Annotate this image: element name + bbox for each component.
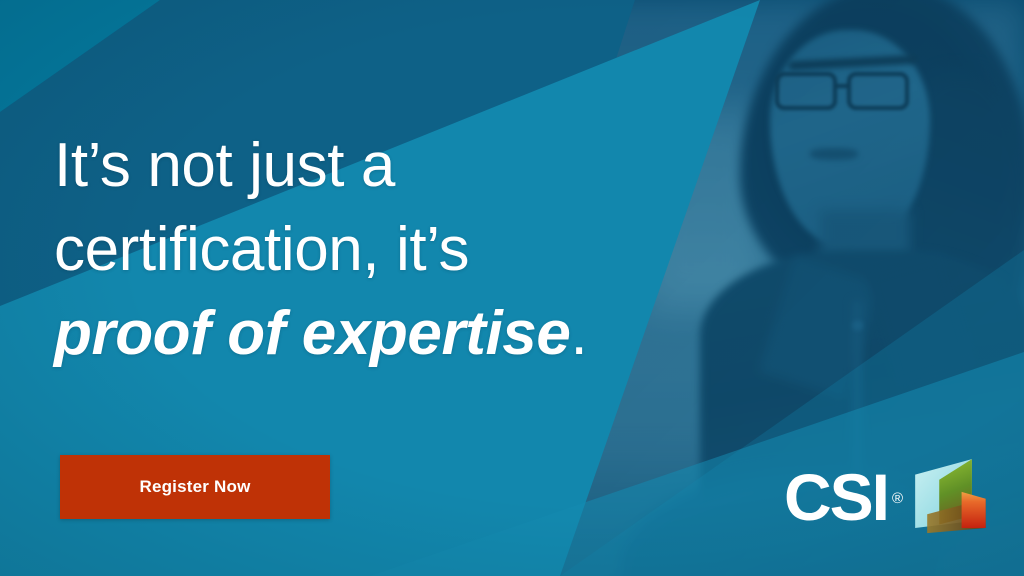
headline-line-2: certification, it’s [54, 208, 714, 292]
headline: It’s not just a certification, it’s proo… [54, 124, 714, 376]
registered-trademark-icon: ® [892, 466, 903, 532]
register-now-button[interactable]: Register Now [60, 455, 330, 519]
csi-wordmark: CSI ® [784, 464, 888, 530]
headline-period: . [570, 299, 587, 368]
csi-logo[interactable]: CSI ® [784, 454, 996, 540]
headline-line-3: proof of expertise. [54, 292, 714, 376]
headline-line-1: It’s not just a [54, 124, 714, 208]
csi-building-logo-mark-icon [910, 454, 996, 540]
headline-emphasis: proof of expertise [54, 299, 570, 368]
promo-banner: It’s not just a certification, it’s proo… [0, 0, 1024, 576]
csi-wordmark-text: CSI [784, 460, 888, 534]
